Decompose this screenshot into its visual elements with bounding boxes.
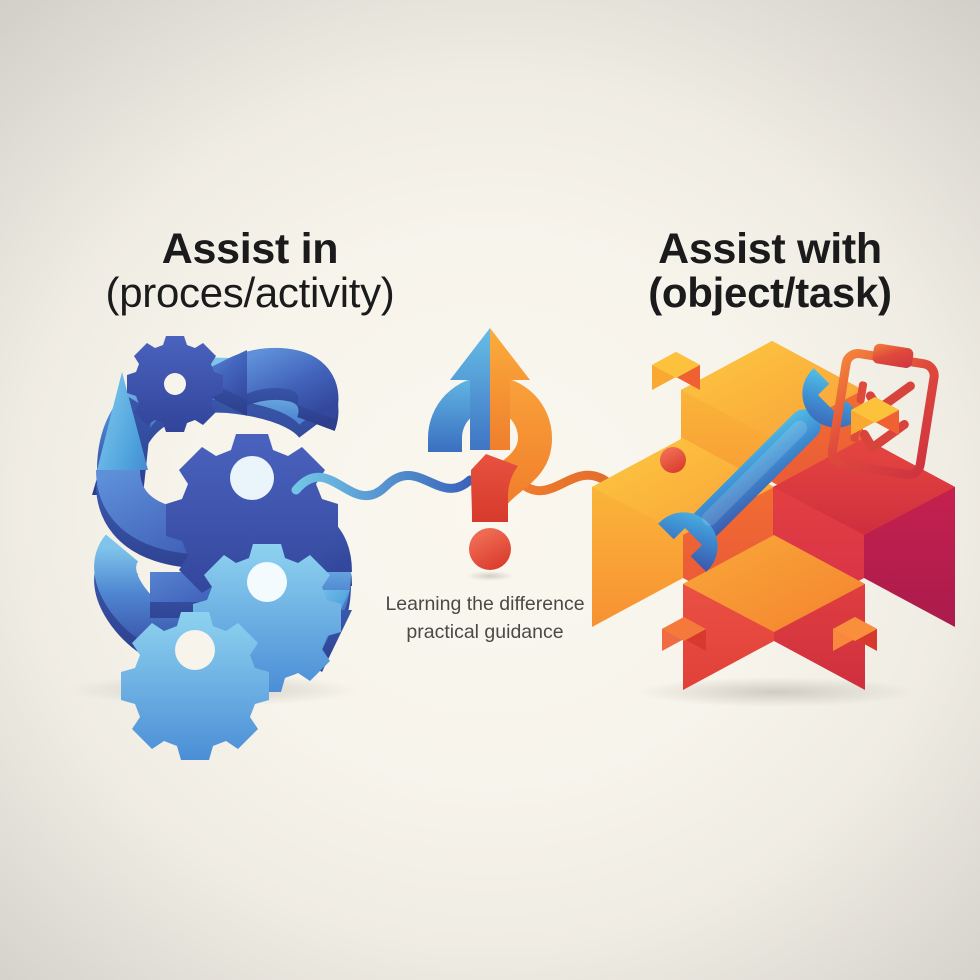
- illustration-artwork: [0, 0, 980, 980]
- small-red-sphere: [660, 447, 686, 473]
- left-title-line1: Assist in: [40, 228, 460, 272]
- question-mark-dot: [469, 528, 511, 570]
- caption-line2: practical guidance: [406, 621, 563, 643]
- right-panel-title: Assist with (object/task): [560, 228, 980, 315]
- left-title-line2: (proces/activity): [40, 272, 460, 315]
- illustration-canvas: Assist in (proces/activity) Assist with …: [0, 0, 980, 980]
- small-cube-top-left: [652, 352, 700, 390]
- right-title-line2: (object/task): [560, 272, 980, 315]
- right-object-graphic: [592, 339, 955, 707]
- connector-line-blue: [296, 475, 470, 495]
- gear-small-top: [127, 336, 223, 432]
- center-caption: Learning the difference practical guidan…: [340, 590, 630, 647]
- left-process-graphic: [70, 336, 360, 760]
- left-panel-title: Assist in (proces/activity): [40, 228, 460, 315]
- caption-line1: Learning the difference: [385, 593, 584, 615]
- right-title-line1: Assist with: [560, 228, 980, 272]
- gear-medium-bottom: [121, 612, 269, 760]
